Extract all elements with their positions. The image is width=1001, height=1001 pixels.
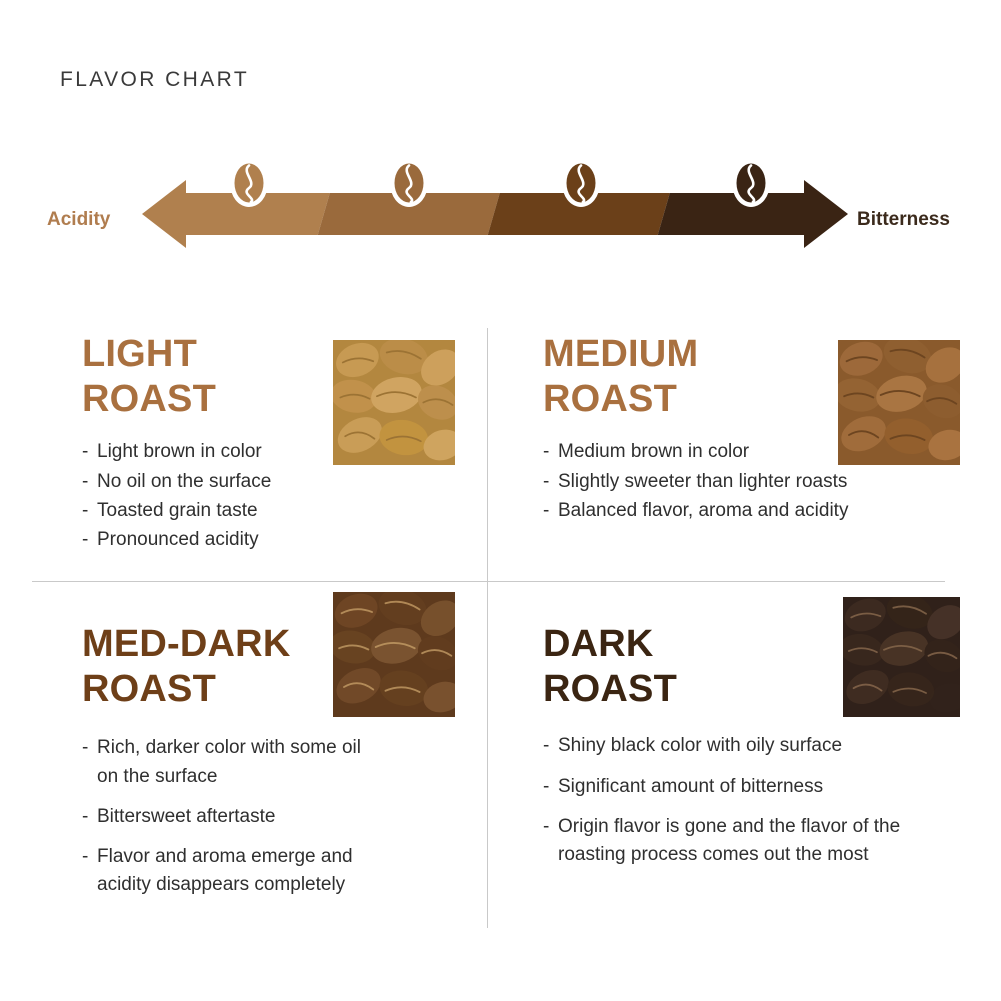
panel-medium-roast-heading: MEDIUM ROAST	[543, 332, 943, 422]
roast-scale-arrow	[0, 160, 1001, 280]
panel-dark-roast-heading: DARK ROAST	[543, 622, 943, 712]
acidity-label: Acidity	[47, 209, 110, 231]
panel-dark-roast: DARK ROAST Shiny black color with oily s…	[543, 622, 943, 869]
list-item: No oil on the surface	[82, 468, 332, 496]
page-title: FLAVOR CHART	[60, 68, 249, 92]
panel-medium-roast-bullets: Medium brown in color Slightly sweeter t…	[543, 438, 943, 524]
divider-vertical	[487, 328, 488, 928]
list-item: Flavor and aroma emerge and acidity disa…	[82, 843, 372, 899]
panel-light-roast-bullets: Light brown in color No oil on the surfa…	[82, 438, 332, 553]
list-item: Shiny black color with oily surface	[543, 732, 928, 760]
list-item: Pronounced acidity	[82, 526, 332, 554]
roast-scale: LIGHT MEDIUM MED-DARK DARK	[0, 160, 1001, 280]
list-item: Rich, darker color with some oil on the …	[82, 734, 372, 790]
panel-med-dark-roast-heading: MED-DARK ROAST	[82, 622, 472, 712]
list-item: Origin flavor is gone and the flavor of …	[543, 813, 928, 869]
list-item: Balanced flavor, aroma and acidity	[543, 497, 943, 525]
coffee-bean-icon-light	[230, 160, 268, 207]
list-item: Medium brown in color	[543, 438, 943, 466]
list-item: Significant amount of bitterness	[543, 773, 928, 801]
list-item: Light brown in color	[82, 438, 332, 466]
divider-horizontal	[32, 581, 945, 582]
panel-med-dark-roast-bullets: Rich, darker color with some oil on the …	[82, 734, 372, 899]
coffee-bean-icon-dark	[732, 160, 770, 207]
panel-dark-roast-bullets: Shiny black color with oily surface Sign…	[543, 732, 928, 868]
panel-med-dark-roast: MED-DARK ROAST Rich, darker color with s…	[82, 622, 472, 899]
coffee-bean-icon-med-dark	[562, 160, 600, 207]
list-item: Bittersweet aftertaste	[82, 803, 372, 831]
list-item: Toasted grain taste	[82, 497, 332, 525]
panel-light-roast-heading: LIGHT ROAST	[82, 332, 472, 422]
list-item: Slightly sweeter than lighter roasts	[543, 468, 943, 496]
coffee-bean-icon-medium	[390, 160, 428, 207]
bitterness-label: Bitterness	[857, 209, 950, 231]
